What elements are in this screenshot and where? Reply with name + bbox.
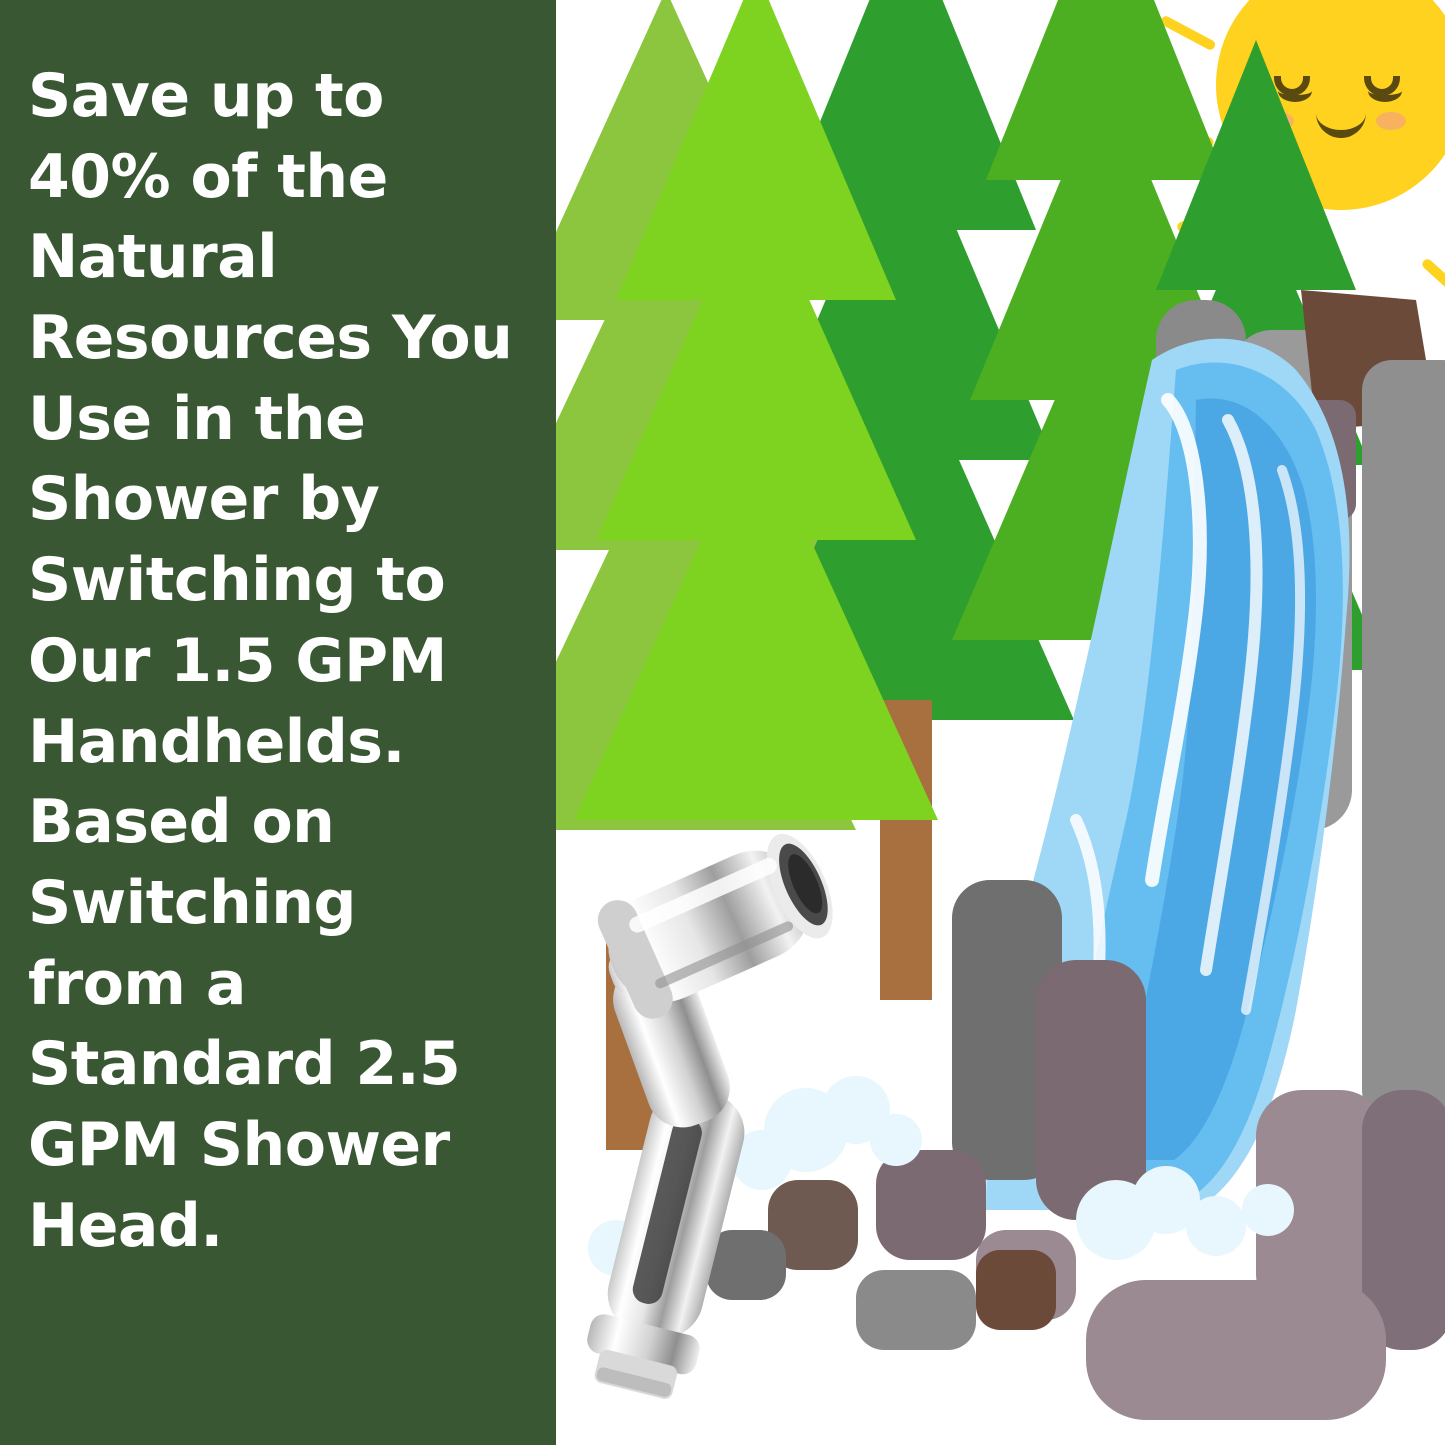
product-marketing-image: Save up to 40% of the Natural Resources … — [0, 0, 1445, 1445]
marketing-copy-panel: Save up to 40% of the Natural Resources … — [0, 0, 556, 1445]
headline-text: Save up to 40% of the Natural Resources … — [28, 56, 528, 1266]
chrome-handheld-shower-head — [556, 790, 886, 1410]
nature-illustration — [556, 0, 1445, 1445]
